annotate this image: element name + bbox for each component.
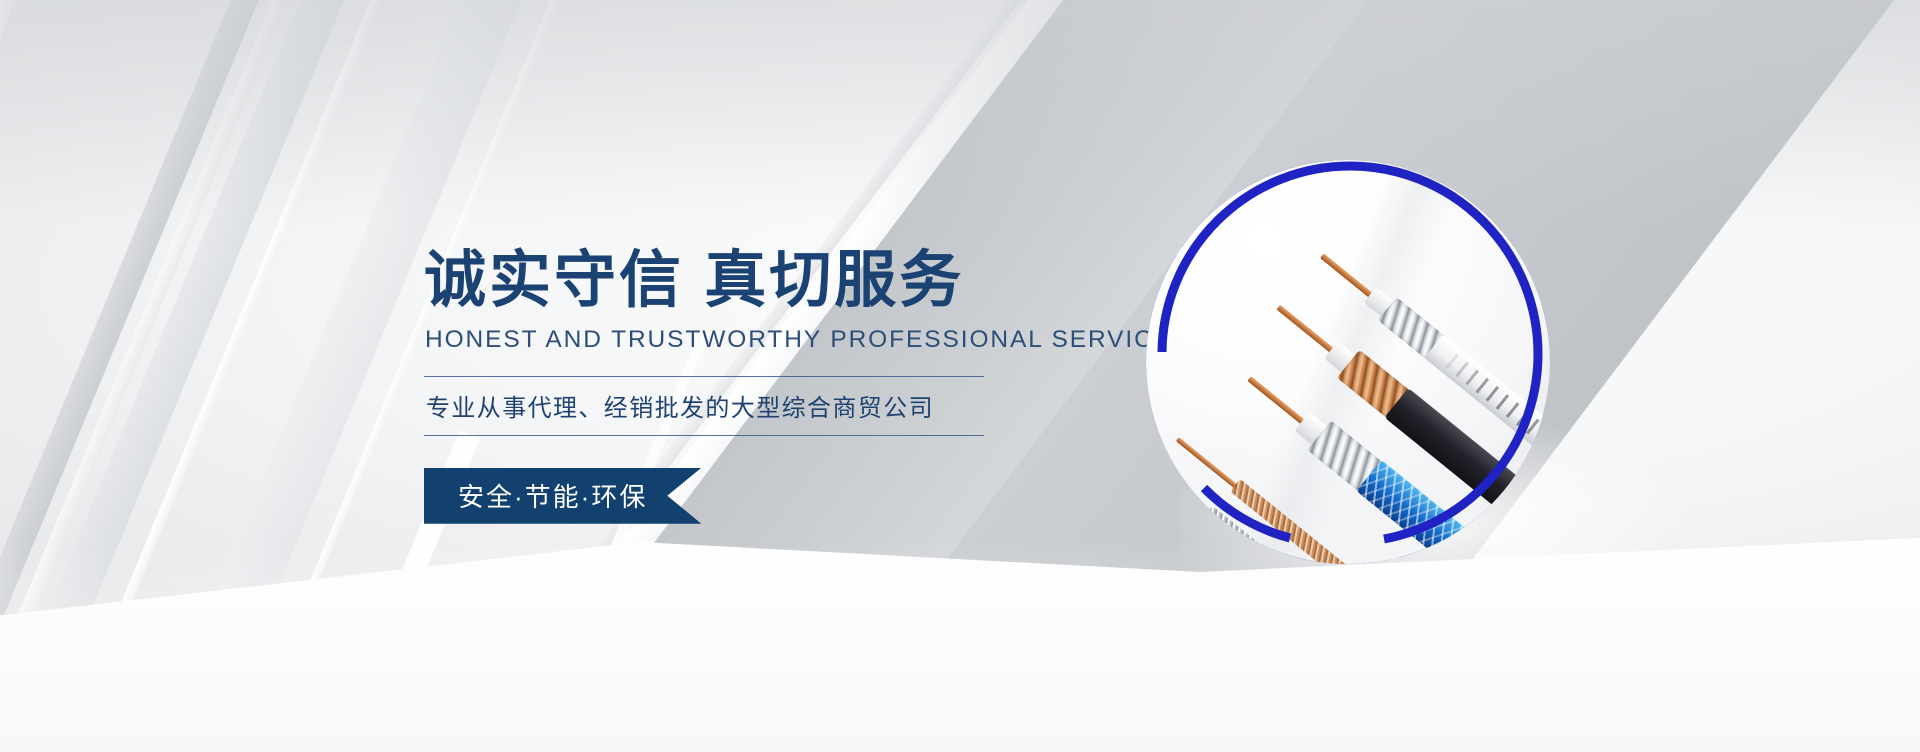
- product-circle: [1138, 152, 1558, 572]
- hero-banner: 诚实守信 真切服务 HONEST AND TRUSTWORTHY PROFESS…: [0, 0, 1920, 752]
- banner-copy: 诚实守信 真切服务 HONEST AND TRUSTWORTHY PROFESS…: [424, 248, 1104, 524]
- description-text: 专业从事代理、经销批发的大型综合商贸公司: [424, 377, 984, 435]
- feature-ribbon-badge: 安全·节能·环保: [424, 468, 701, 524]
- description-block: 专业从事代理、经销批发的大型综合商贸公司: [424, 376, 984, 436]
- page-title: 诚实守信 真切服务: [424, 248, 1104, 314]
- product-photo: [1146, 160, 1550, 564]
- divider-bottom: [424, 435, 984, 436]
- page-subtitle: HONEST AND TRUSTWORTHY PROFESSIONAL SERV…: [425, 326, 1104, 354]
- divider-top: [424, 376, 984, 377]
